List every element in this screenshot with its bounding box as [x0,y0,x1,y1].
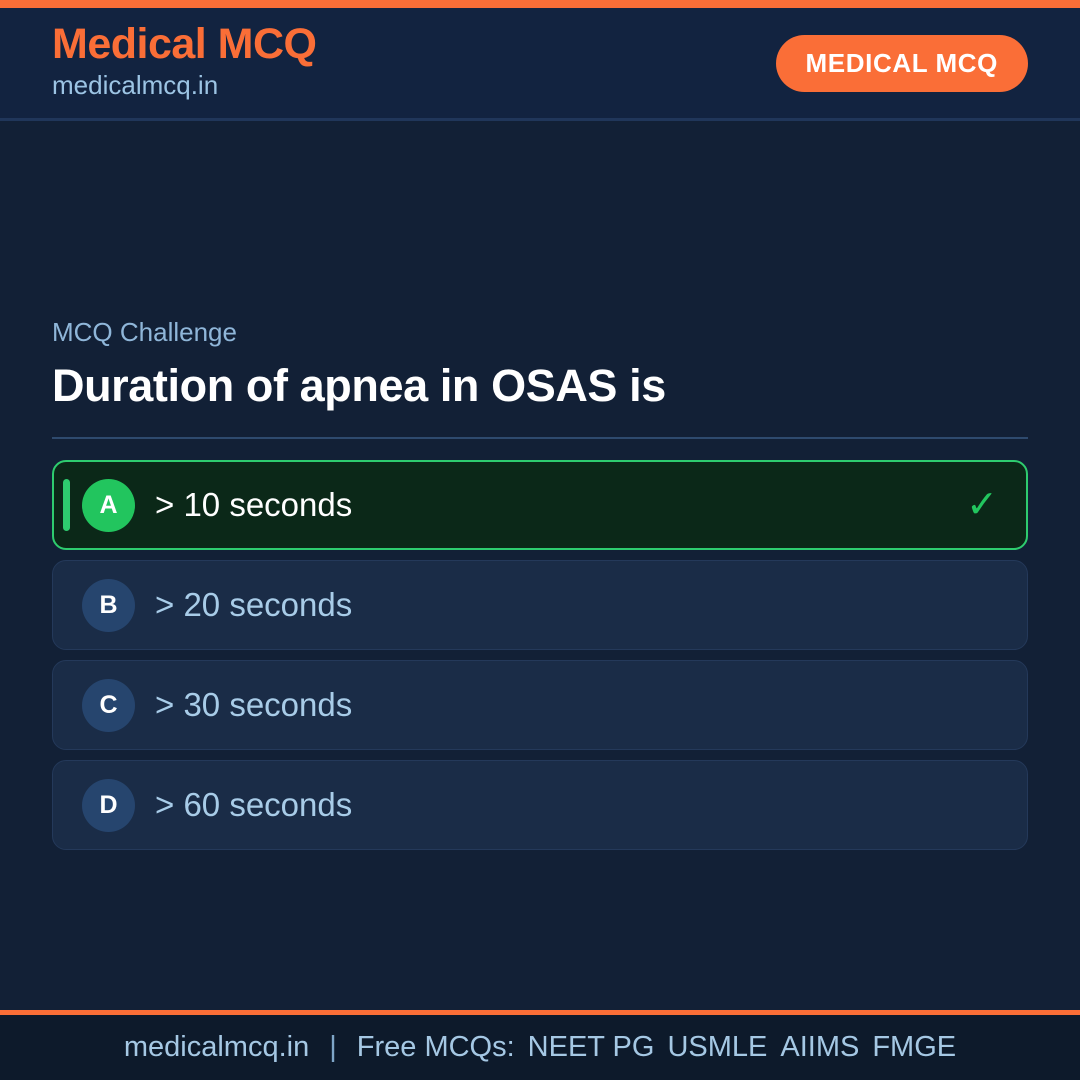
option-badge-c: C [82,679,135,732]
footer-site-link[interactable]: medicalmcq.in [124,1031,309,1064]
check-icon: ✓ [966,486,998,524]
footer-exam-fmge[interactable]: FMGE [872,1031,956,1064]
option-text-c: > 30 seconds [155,687,999,723]
question-divider [52,437,1028,439]
footer-label: Free MCQs: [357,1031,515,1064]
option-row-d[interactable]: D > 60 seconds [52,760,1028,850]
header-badge: MEDICAL MCQ [776,35,1028,92]
main-content: MCQ Challenge Duration of apnea in OSAS … [0,121,1080,1010]
option-row-c[interactable]: C > 30 seconds [52,660,1028,750]
footer-exam-aiims[interactable]: AIIMS [780,1031,859,1064]
page-footer: medicalmcq.in | Free MCQs: NEET PG USMLE… [0,1010,1080,1080]
brand-block: Medical MCQ medicalmcq.in [52,23,317,103]
question-block: MCQ Challenge Duration of apnea in OSAS … [52,317,1028,412]
footer-content: medicalmcq.in | Free MCQs: NEET PG USMLE… [124,1031,956,1064]
options-list: A > 10 seconds ✓ B > 20 seconds C > 30 s… [52,460,1028,850]
top-accent-bar [0,0,1080,8]
option-badge-b: B [82,579,135,632]
option-text-d: > 60 seconds [155,787,999,823]
option-badge-d: D [82,779,135,832]
option-badge-a: A [82,479,135,532]
correct-accent-bar [63,479,70,531]
option-row-b[interactable]: B > 20 seconds [52,560,1028,650]
option-text-b: > 20 seconds [155,587,999,623]
footer-exam-usmle[interactable]: USMLE [667,1031,767,1064]
brand-subtitle: medicalmcq.in [52,69,317,103]
eyebrow-label: MCQ Challenge [52,317,1028,348]
footer-separator: | [329,1031,337,1064]
option-row-a[interactable]: A > 10 seconds ✓ [52,460,1028,550]
option-text-a: > 10 seconds [155,487,952,523]
brand-title: Medical MCQ [52,23,317,67]
question-text: Duration of apnea in OSAS is [52,360,1028,412]
page-header: Medical MCQ medicalmcq.in MEDICAL MCQ [0,8,1080,121]
footer-exam-neet-pg[interactable]: NEET PG [528,1031,655,1064]
